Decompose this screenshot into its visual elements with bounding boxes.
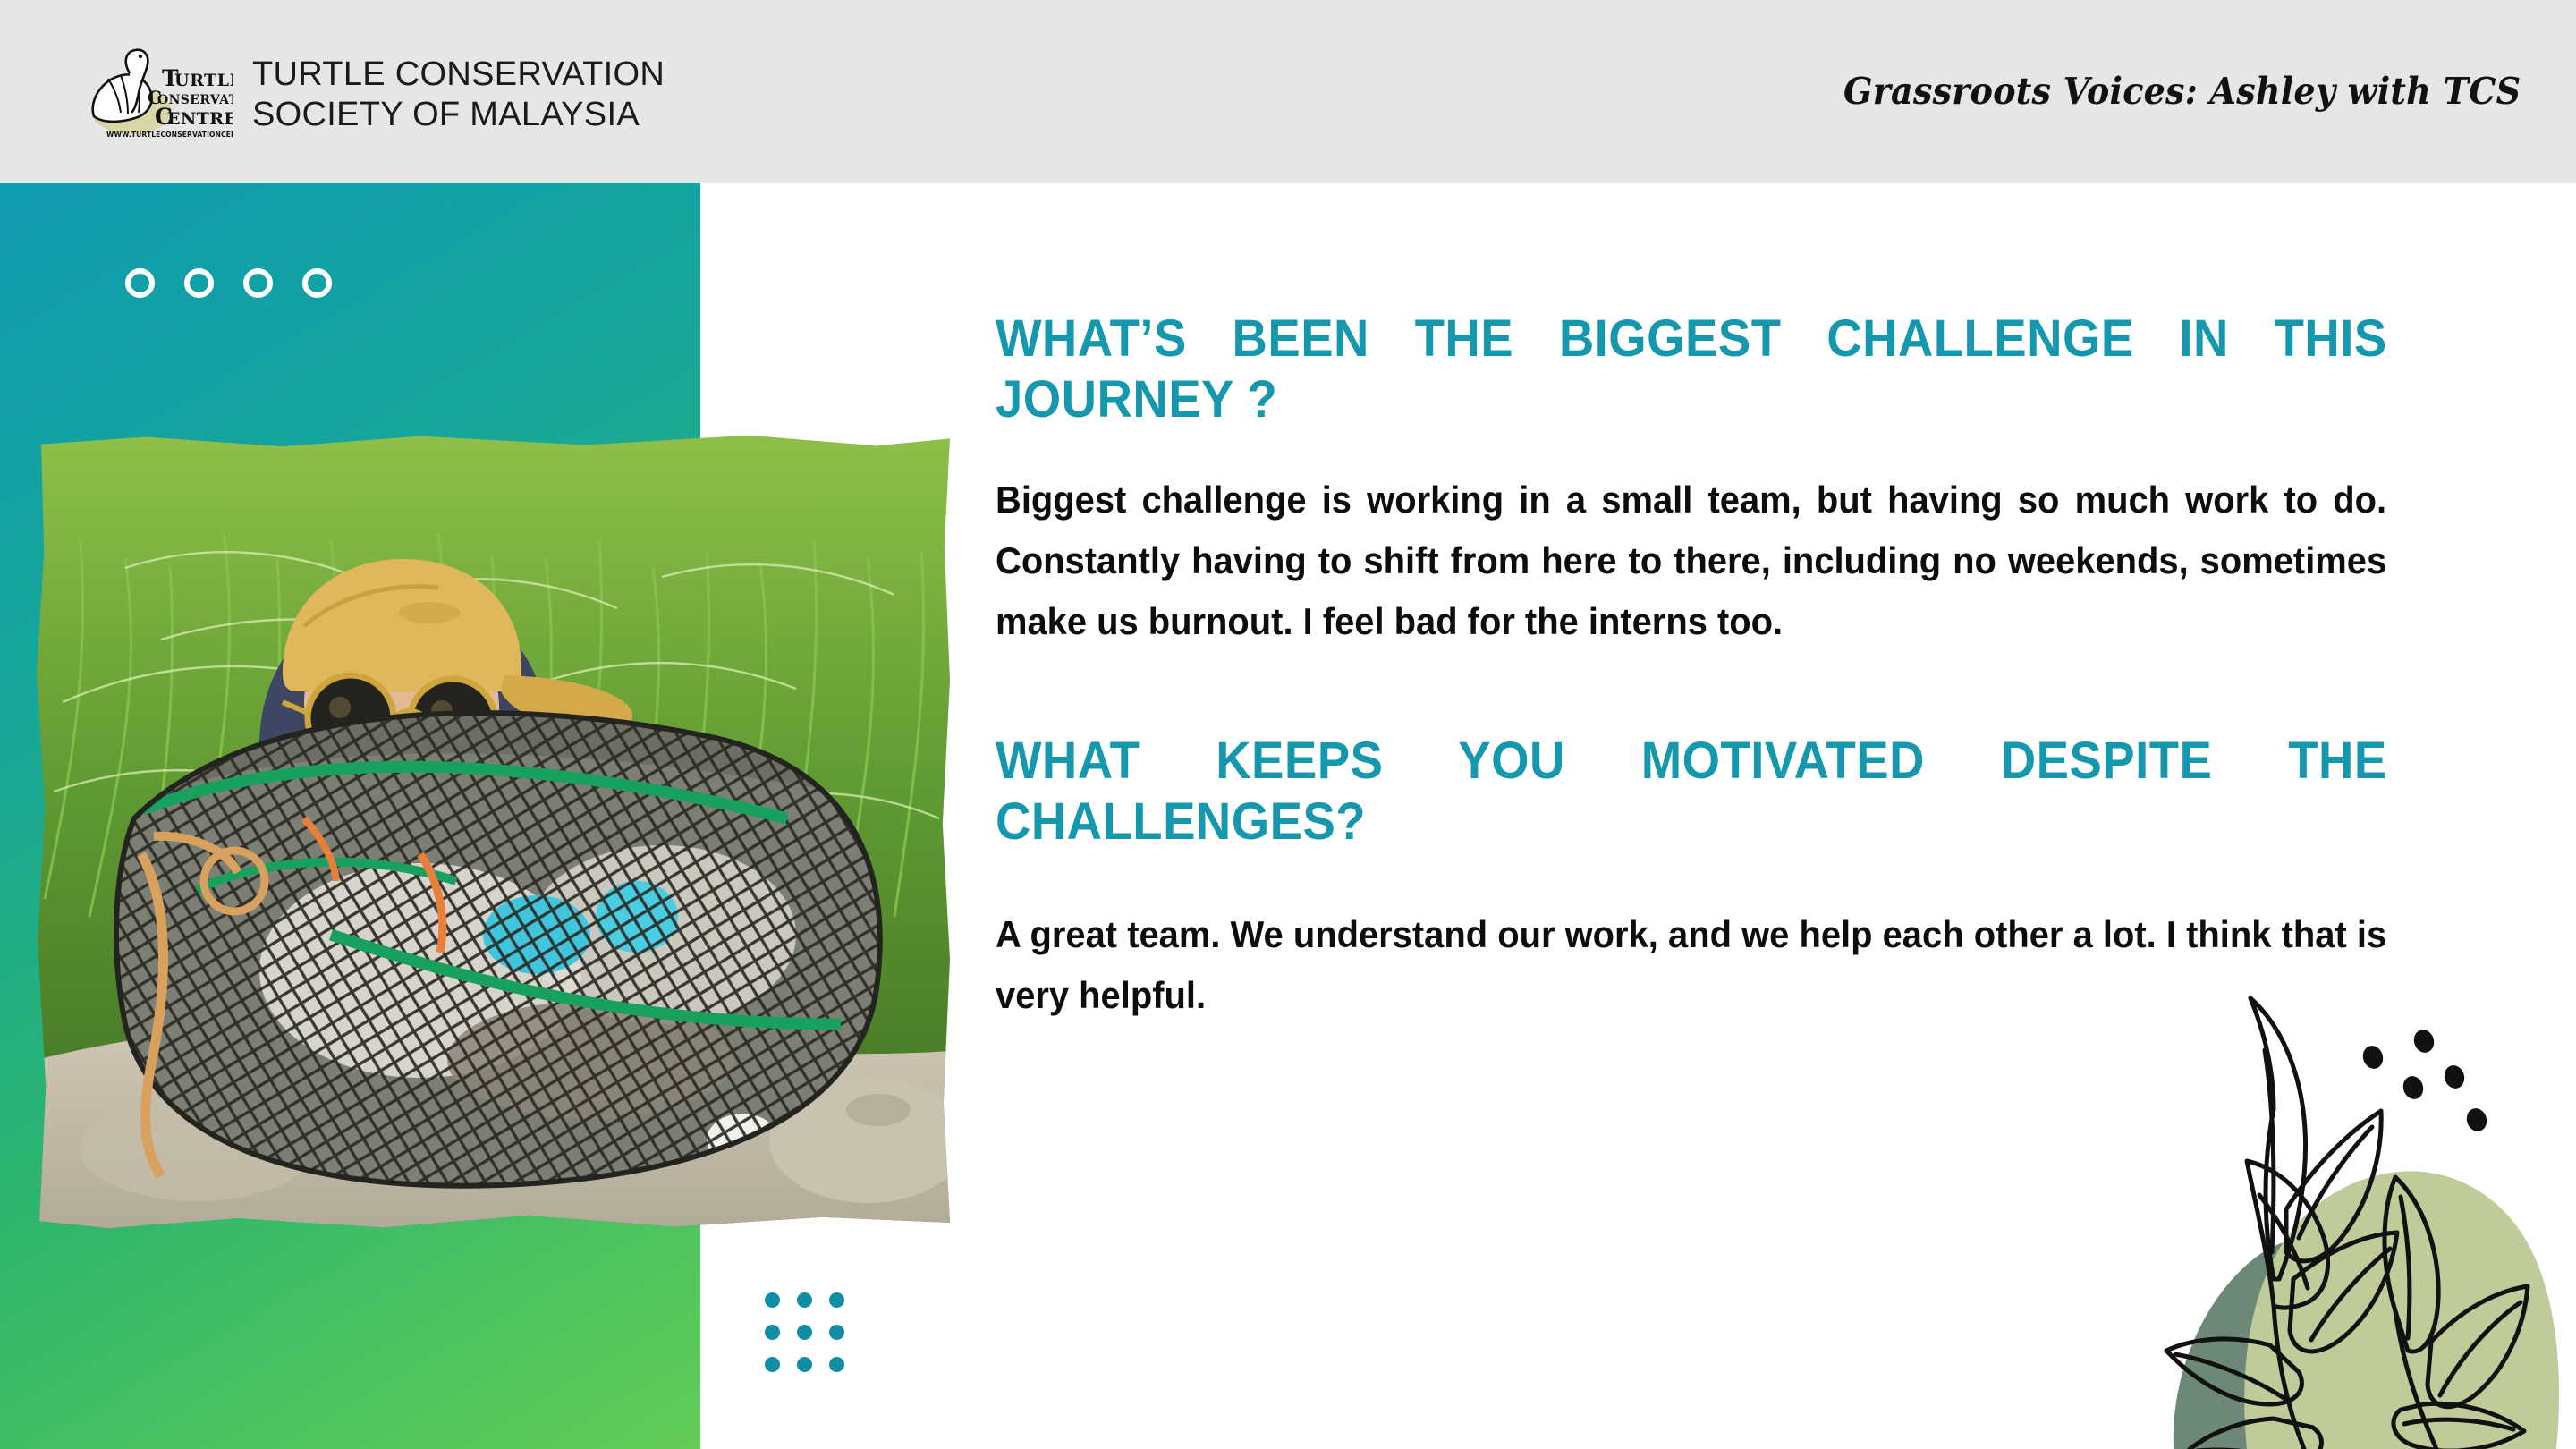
ring-icon [125,268,155,298]
grid-dot-icon [829,1292,844,1308]
grid-dot-icon [829,1325,844,1340]
grid-dot-icon [765,1292,780,1308]
ring-icon [243,268,273,298]
question-heading-1: WHAT’S BEEN THE BIGGEST CHALLENGE IN THI… [996,309,2387,430]
turtle-conservation-centre-logo-icon: T URTLE C ONSERVATION C ENTRE WWW.TURTLE… [76,47,233,143]
ring-icon [184,268,214,298]
feature-photo [36,434,950,1230]
answer-paragraph-1: Biggest challenge is working in a small … [996,470,2386,652]
header-bar: T URTLE C ONSERVATION C ENTRE WWW.TURTLE… [0,0,2576,183]
qa-content: WHAT’S BEEN THE BIGGEST CHALLENGE IN THI… [996,309,2386,1026]
grid-dot-icon [797,1292,812,1308]
slide-canvas: T URTLE C ONSERVATION C ENTRE WWW.TURTLE… [0,0,2576,1449]
ring-dot-decoration [125,268,332,298]
svg-text:URTLE: URTLE [174,71,233,90]
grid-dot-icon [829,1357,844,1372]
grid-dot-icon [797,1357,812,1372]
dot-grid-decoration [765,1292,861,1389]
ring-icon [302,268,332,298]
organization-name: TURTLE CONSERVATION SOCIETY OF MALAYSIA [252,55,665,135]
grid-dot-icon [797,1325,812,1340]
botanical-decoration [2039,984,2576,1449]
question-heading-2: WHAT KEEPS YOU MOTIVATED DESPITE THE CHA… [996,731,2387,852]
brand-lockup: T URTLE C ONSERVATION C ENTRE WWW.TURTLE… [76,47,665,143]
grid-dot-icon [765,1325,780,1340]
grid-dot-icon [765,1357,780,1372]
svg-text:ENTRE: ENTRE [167,109,233,129]
series-title: Grassroots Voices: Ashley with TCS [1843,70,2521,113]
svg-text:WWW.TURTLECONSERVATIONCENTRE.O: WWW.TURTLECONSERVATIONCENTRE.ORG [106,131,233,139]
